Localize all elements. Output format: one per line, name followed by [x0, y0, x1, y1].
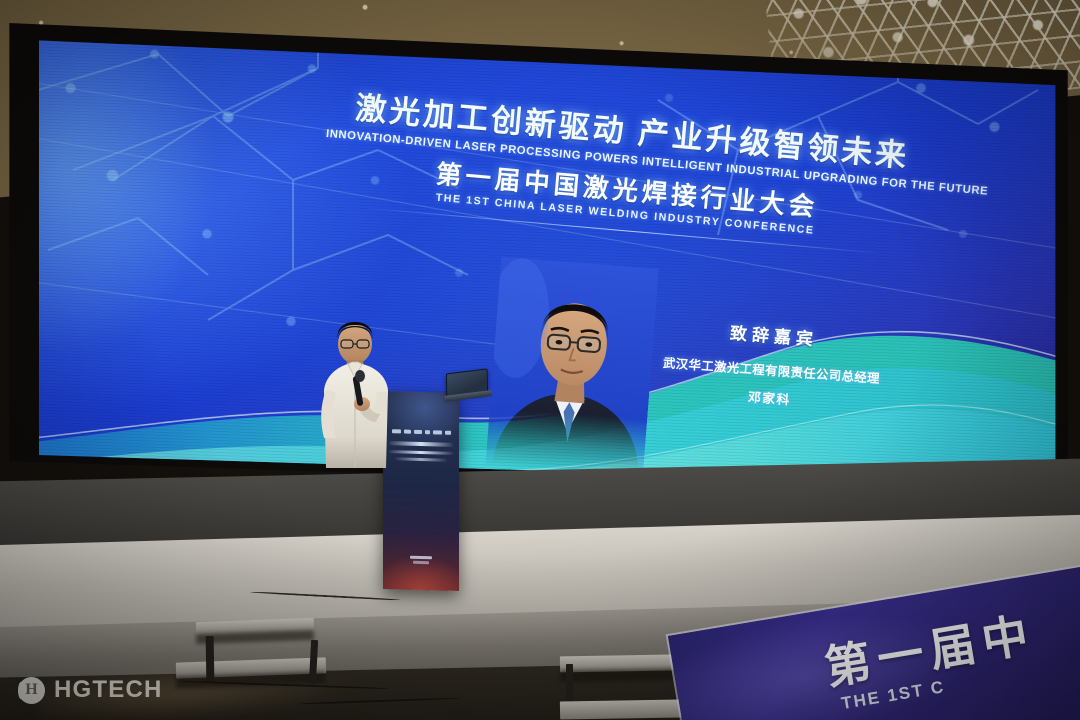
- hgtech-logo-icon: H: [18, 677, 45, 704]
- podium-footer-logo: [406, 556, 436, 567]
- hgtech-watermark: H HGTECH: [18, 676, 163, 704]
- speaker-portrait-photo: [485, 257, 659, 479]
- standing-speaker: [298, 318, 410, 468]
- hgtech-brand-text: HGTECH: [54, 676, 163, 704]
- stage-step-railing: [206, 636, 215, 682]
- conference-photo-scene: 激光加工创新驱动 产业升级智领未来 INNOVATION-DRIVEN LASE…: [0, 0, 1080, 720]
- podium-laptop: [446, 368, 488, 397]
- hgtech-logo-letter: H: [25, 682, 37, 698]
